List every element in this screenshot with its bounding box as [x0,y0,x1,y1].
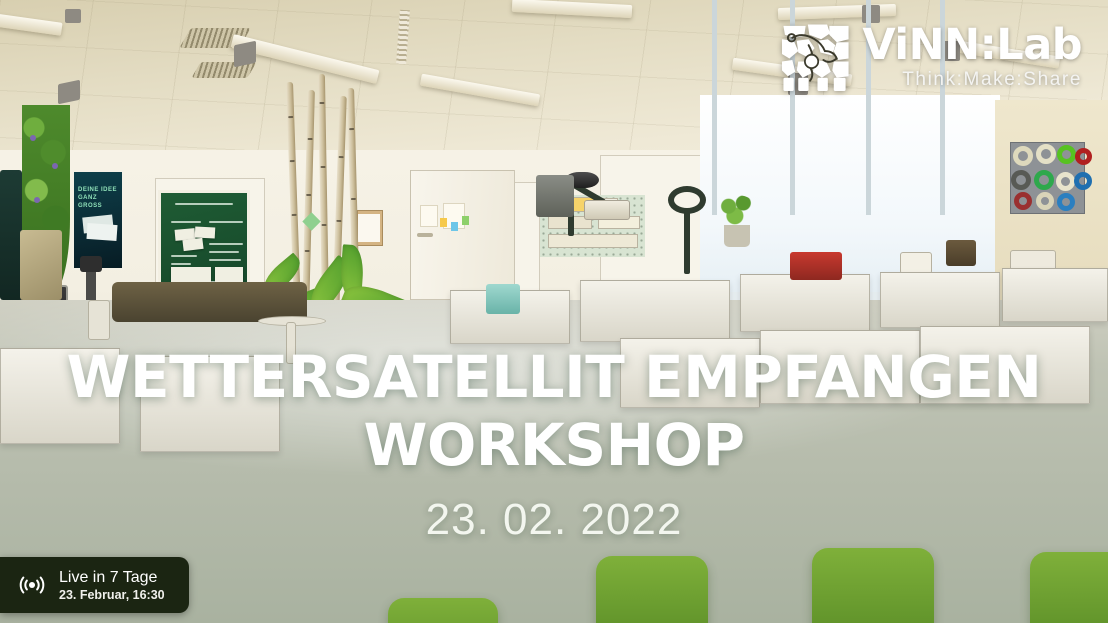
vinnlab-elephant-logo-icon [779,20,853,94]
brand-logo[interactable]: ViNN:Lab Think:Make:Share [779,20,1082,94]
live-badge-text: Live in 7 Tage 23. Februar, 16:30 [59,568,165,603]
brand-name: ViNN:Lab [862,22,1082,68]
event-thumbnail: DEINE IDEEGANZ GROSS [0,0,1108,623]
live-headline: Live in 7 Tage [59,568,165,587]
live-subline: 23. Februar, 16:30 [59,587,165,603]
brand-tagline: Think:Make:Share [902,68,1082,92]
live-broadcast-icon [18,571,46,599]
brand-text: ViNN:Lab Think:Make:Share [862,20,1082,92]
live-countdown-badge[interactable]: Live in 7 Tage 23. Februar, 16:30 [0,557,189,613]
